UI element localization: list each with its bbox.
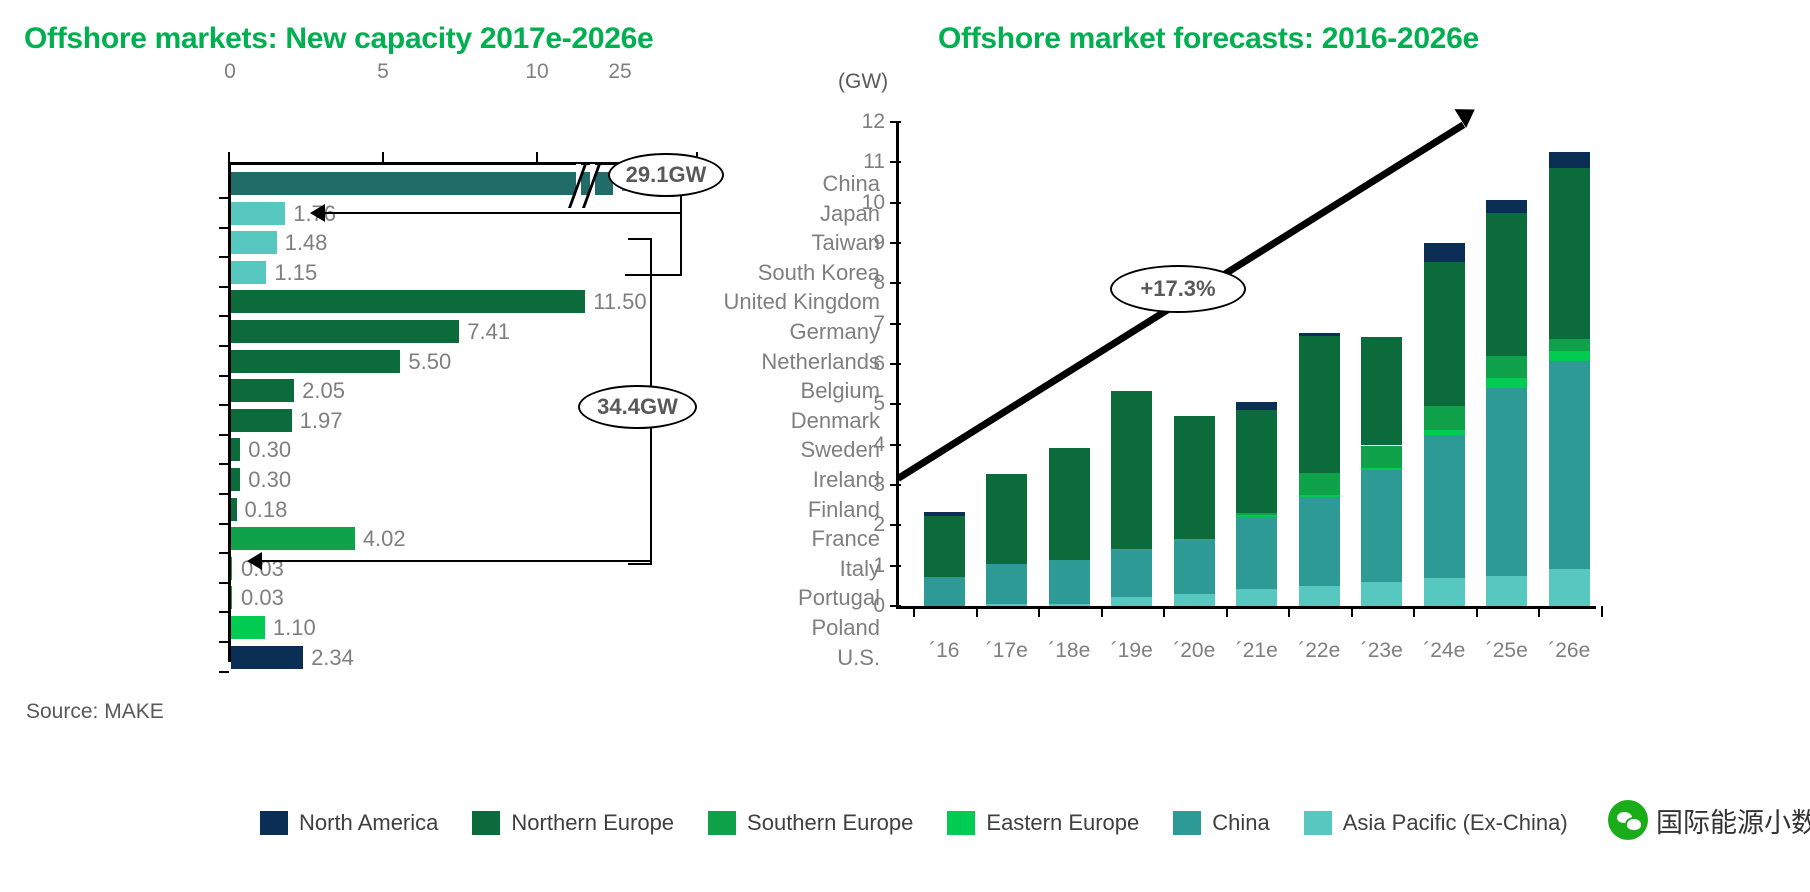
stack-segment[interactable]: [1361, 337, 1402, 446]
legend-label: Eastern Europe: [986, 810, 1139, 836]
bar[interactable]: [231, 379, 294, 402]
stack-segment[interactable]: [1174, 416, 1215, 539]
legend-swatch: [472, 811, 500, 835]
bar[interactable]: [231, 172, 613, 195]
right-x-tick-label: ´21e: [1236, 639, 1278, 663]
stacked-bar[interactable]: [1424, 122, 1465, 606]
stacked-bar[interactable]: [1549, 122, 1590, 606]
stacked-bar[interactable]: [1236, 122, 1277, 606]
right-x-tick-label: ´23e: [1361, 639, 1403, 663]
stack-segment[interactable]: [1111, 391, 1152, 548]
left-x-tick-0: 0: [224, 60, 236, 84]
stack-segment[interactable]: [1299, 473, 1340, 495]
left-x-tick-5: 5: [377, 60, 389, 84]
bar-row: Italy0.03: [0, 554, 880, 583]
bar-value-label: 2.34: [311, 643, 354, 672]
stack-segment[interactable]: [924, 512, 965, 515]
right-x-tick-label: ´24e: [1423, 639, 1465, 663]
stack-segment[interactable]: [1174, 594, 1215, 606]
legend-item[interactable]: Eastern Europe: [947, 810, 1139, 836]
bar-value-label: 2.05: [302, 376, 345, 405]
right-x-tick-label: ´18e: [1048, 639, 1090, 663]
bar-value-label: 1.97: [300, 406, 343, 435]
right-x-tickmark: [1038, 606, 1040, 617]
bar[interactable]: [231, 202, 285, 225]
legend-item[interactable]: China: [1173, 810, 1269, 836]
stack-segment[interactable]: [1424, 406, 1465, 430]
right-x-tick-label: ´17e: [986, 639, 1028, 663]
right-y-tick-label: 6: [851, 352, 885, 376]
wechat-icon: [1608, 800, 1648, 840]
bar-row: Finland0.18: [0, 495, 880, 524]
right-chart: 0123456789101112 ´16´17e´18e´19e´20e´21e…: [820, 92, 1600, 652]
right-x-tick-label: ´20e: [1173, 639, 1215, 663]
bar[interactable]: [231, 557, 232, 580]
right-x-tickmark: [1163, 606, 1165, 617]
right-y-tick-label: 4: [851, 433, 885, 457]
legend-swatch: [947, 811, 975, 835]
stack-segment[interactable]: [1486, 356, 1527, 378]
axis-break-slash-2: [590, 164, 595, 208]
stack-segment[interactable]: [1424, 262, 1465, 405]
stack-segment[interactable]: [1111, 549, 1152, 550]
arrowhead-europe: [247, 552, 262, 570]
bar-row: China24.70: [0, 169, 880, 198]
stack-segment[interactable]: [1361, 470, 1402, 582]
bar-value-label: 1.10: [273, 613, 316, 642]
right-y-tick-label: 5: [851, 392, 885, 416]
stacked-bar[interactable]: [924, 122, 965, 606]
right-y-tick-label: 3: [851, 473, 885, 497]
legend-label: China: [1212, 810, 1269, 836]
stack-segment[interactable]: [1549, 152, 1590, 167]
stack-segment[interactable]: [1486, 213, 1527, 356]
stack-segment[interactable]: [1299, 497, 1340, 586]
bar[interactable]: [231, 261, 266, 284]
bar[interactable]: [231, 438, 240, 461]
legend-item[interactable]: North America: [260, 810, 438, 836]
right-y-tick-label: 12: [851, 110, 885, 134]
legend-swatch: [260, 811, 288, 835]
right-axis-unit: (GW): [838, 70, 888, 94]
right-x-tick-label: ´19e: [1111, 639, 1153, 663]
callout-cagr: +17.3%: [1110, 265, 1246, 313]
stack-segment[interactable]: [1299, 336, 1340, 473]
stack-segment[interactable]: [1424, 430, 1465, 435]
stack-segment[interactable]: [924, 577, 965, 606]
watermark: 国际能源小数据: [1608, 800, 1810, 840]
right-y-tick-label: 0: [851, 594, 885, 618]
bar-value-label: 5.50: [408, 347, 451, 376]
right-x-tick-label: ´25e: [1486, 639, 1528, 663]
bar-row: Ireland0.30: [0, 465, 880, 494]
bar[interactable]: [231, 409, 292, 432]
bar[interactable]: [231, 646, 303, 669]
leader-line-europe: [262, 560, 650, 562]
right-x-tickmark: [1288, 606, 1290, 617]
bar-value-label: 0.18: [245, 495, 288, 524]
stack-segment[interactable]: [1236, 589, 1277, 606]
bar[interactable]: [231, 231, 277, 254]
stack-segment[interactable]: [1486, 576, 1527, 606]
watermark-text: 国际能源小数据: [1656, 801, 1810, 840]
stack-segment[interactable]: [1424, 578, 1465, 606]
right-x-tickmark: [1601, 606, 1603, 617]
right-x-tickmark: [976, 606, 978, 617]
right-y-tick-label: 8: [851, 271, 885, 295]
right-x-tickmark: [913, 606, 915, 617]
bar-row: Portugal0.03: [0, 583, 880, 612]
bar[interactable]: [231, 350, 400, 373]
stack-segment[interactable]: [1299, 586, 1340, 606]
bar-value-label: 1.15: [274, 258, 317, 287]
bar-value-label: 0.03: [241, 583, 284, 612]
stack-segment[interactable]: [1236, 517, 1277, 589]
left-x-tick-10: 10: [525, 60, 548, 84]
right-x-tickmark: [1226, 606, 1228, 617]
legend-swatch: [1173, 811, 1201, 835]
stack-segment[interactable]: [1111, 597, 1152, 606]
stack-segment[interactable]: [1424, 243, 1465, 262]
stack-segment[interactable]: [1236, 515, 1277, 517]
bar[interactable]: [231, 468, 240, 491]
bar-row: Germany7.41: [0, 317, 880, 346]
stack-segment[interactable]: [1299, 495, 1340, 497]
right-y-tick-label: 10: [851, 191, 885, 215]
right-x-tickmark: [1476, 606, 1478, 617]
stack-segment[interactable]: [924, 516, 965, 577]
stacked-bar[interactable]: [986, 122, 1027, 606]
right-x-tickmark: [1351, 606, 1353, 617]
stack-segment[interactable]: [1361, 446, 1402, 468]
bar[interactable]: [231, 586, 232, 609]
left-x-tickmark-10: [536, 152, 538, 163]
left-x-tickmark-5: [382, 152, 384, 163]
right-y-tick-label: 9: [851, 231, 885, 255]
stacked-bar[interactable]: [1299, 122, 1340, 606]
stacked-bar[interactable]: [1486, 122, 1527, 606]
right-y-tick-label: 11: [851, 150, 885, 174]
bar[interactable]: [231, 616, 265, 639]
right-x-tick-label: ´26e: [1548, 639, 1590, 663]
stack-segment[interactable]: [1549, 351, 1590, 361]
legend-item[interactable]: Asia Pacific (Ex-China): [1304, 810, 1568, 836]
right-y-tick-label: 2: [851, 513, 885, 537]
bar-row: Taiwan1.48: [0, 228, 880, 257]
bar[interactable]: [231, 290, 585, 313]
bar[interactable]: [231, 498, 237, 521]
stacked-bar[interactable]: [1174, 122, 1215, 606]
stack-segment[interactable]: [1299, 333, 1340, 336]
stack-segment[interactable]: [1049, 448, 1090, 561]
legend-label: Asia Pacific (Ex-China): [1343, 810, 1568, 836]
bar-row: Denmark1.97: [0, 406, 880, 435]
stack-segment[interactable]: [986, 604, 1027, 606]
stack-segment[interactable]: [986, 474, 1027, 565]
stack-segment[interactable]: [1111, 550, 1152, 598]
stack-segment[interactable]: [986, 564, 1027, 604]
bar-row: U.S.2.34: [0, 643, 880, 672]
bar-row: Netherlands5.50: [0, 347, 880, 376]
bar-row: United Kingdom11.50: [0, 287, 880, 316]
legend-item[interactable]: Southern Europe: [708, 810, 913, 836]
bar-row: South Korea1.15: [0, 258, 880, 287]
stack-segment[interactable]: [1486, 388, 1527, 576]
legend-label: North America: [299, 810, 438, 836]
stack-segment[interactable]: [1549, 361, 1590, 569]
bar-value-label: 0.30: [248, 435, 291, 464]
legend-label: Southern Europe: [747, 810, 913, 836]
right-x-axis: [896, 606, 1596, 609]
bar-value-label: 0.30: [248, 465, 291, 494]
right-chart-title: Offshore market forecasts: 2016-2026e: [938, 22, 1479, 56]
stack-segment[interactable]: [1549, 168, 1590, 339]
poster-root: Offshore markets: New capacity 2017e-202…: [0, 0, 1810, 892]
stack-segment[interactable]: [1486, 200, 1527, 213]
stack-segment[interactable]: [1174, 539, 1215, 593]
legend-label: Northern Europe: [511, 810, 674, 836]
stack-segment[interactable]: [1549, 569, 1590, 606]
bar-row: Sweden0.30: [0, 435, 880, 464]
right-x-tick-label: ´16: [929, 639, 959, 663]
stacked-bar[interactable]: [1111, 122, 1152, 606]
bar-value-label: 1.48: [285, 228, 328, 257]
stack-segment[interactable]: [1174, 539, 1215, 540]
stack-segment[interactable]: [1049, 604, 1090, 606]
bar-value-label: 7.41: [467, 317, 510, 346]
left-chart-title: Offshore markets: New capacity 2017e-202…: [24, 22, 653, 56]
right-x-tick-label: ´22e: [1298, 639, 1340, 663]
arrowhead-asia: [310, 204, 325, 222]
bar[interactable]: [231, 527, 355, 550]
stack-segment[interactable]: [1549, 339, 1590, 351]
right-x-tickmark: [1413, 606, 1415, 617]
legend-item[interactable]: Northern Europe: [472, 810, 674, 836]
stack-segment[interactable]: [1236, 410, 1277, 513]
stack-segment[interactable]: [1361, 582, 1402, 606]
stacked-bar[interactable]: [1361, 122, 1402, 606]
callout-europe: 34.4GW: [578, 385, 697, 429]
callout-asia: 29.1GW: [608, 153, 724, 197]
right-y-tick-label: 1: [851, 554, 885, 578]
stack-segment[interactable]: [1236, 513, 1277, 515]
source-note: Source: MAKE: [26, 700, 164, 724]
right-y-tick-label: 7: [851, 312, 885, 336]
left-y-tickmark: [219, 671, 229, 673]
left-chart: 0 5 10 25 China24.70Japan1.76Taiwan1.48S…: [0, 60, 880, 700]
right-y-axis: [896, 122, 899, 606]
stack-segment[interactable]: [1236, 402, 1277, 411]
stack-segment[interactable]: [1424, 435, 1465, 578]
stack-segment[interactable]: [1486, 378, 1527, 388]
bar-row: France4.02: [0, 524, 880, 553]
legend-swatch: [708, 811, 736, 835]
left-x-tick-25: 25: [608, 60, 631, 84]
stack-segment[interactable]: [1361, 468, 1402, 470]
right-x-tickmark: [1538, 606, 1540, 617]
chart-legend: North AmericaNorthern EuropeSouthern Eur…: [260, 810, 1602, 836]
bar-row: Poland1.10: [0, 613, 880, 642]
bar-row: Belgium2.05: [0, 376, 880, 405]
right-x-tickmark: [1101, 606, 1103, 617]
legend-swatch: [1304, 811, 1332, 835]
bar[interactable]: [231, 320, 459, 343]
bar-value-label: 4.02: [363, 524, 406, 553]
stack-segment[interactable]: [1049, 560, 1090, 604]
axis-break-slash-1: [576, 164, 581, 208]
leader-line-asia: [325, 212, 680, 214]
